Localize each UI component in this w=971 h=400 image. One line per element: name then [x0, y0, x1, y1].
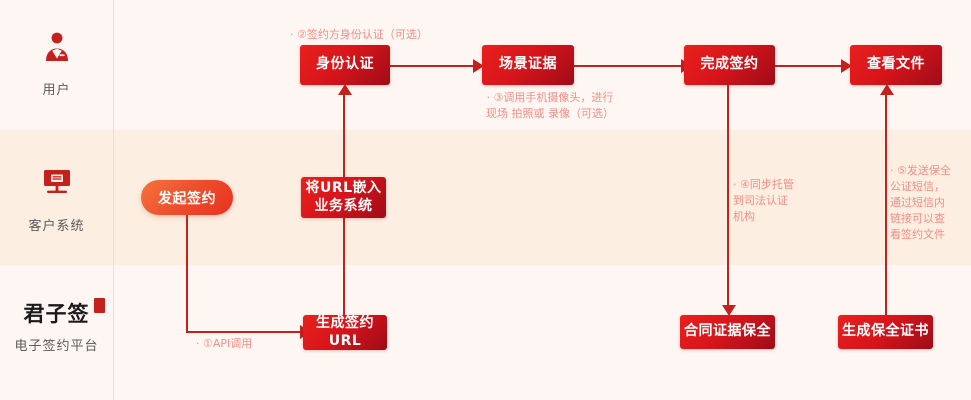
monitor-icon [0, 168, 113, 205]
node-embed-url[interactable]: 将URL嵌入 业务系统 [301, 177, 386, 218]
node-label: 将URL嵌入 业务系统 [305, 180, 381, 215]
lane-label-user: 用户 [0, 30, 113, 98]
lane-label-text: 客户系统 [0, 215, 113, 234]
node-scene-evidence[interactable]: 场景证据 [482, 45, 574, 85]
lane-label-text: 电子签约平台 [0, 335, 113, 354]
node-label: 完成签约 [701, 56, 759, 74]
seal-icon [94, 298, 105, 313]
flow-diagram: 用户 客户系统 君子签 电子签约平台 [0, 0, 971, 400]
note-notary-sms: · ⑤发送保全 公证短信， 通过短信内 链接可以查 看签约文件 [890, 163, 962, 243]
junziqian-logo: 君子签 [0, 303, 113, 324]
logo-wordmark: 君子签 [24, 301, 90, 326]
connector-identity-to-scene [390, 65, 482, 67]
node-label: 合同证据保全 [684, 323, 771, 341]
node-generate-url[interactable]: 生成签约URL [303, 315, 387, 350]
connector-generate-to-embed [343, 205, 345, 315]
node-label: 生成签约URL [303, 315, 387, 350]
note-party-identity-auth: · ②签约方身份认证（可选） [290, 27, 428, 43]
connector-cert-to-view [885, 88, 887, 316]
user-avatar-icon [0, 30, 113, 69]
node-initiate-signing[interactable]: 发起签约 [141, 180, 233, 215]
connector-complete-to-evidence [727, 85, 729, 307]
connector-complete-to-view [775, 65, 850, 67]
lane-column-divider [113, 0, 114, 400]
node-label: 身份认证 [316, 56, 374, 74]
lane-label-text: 用户 [0, 79, 113, 98]
note-api-call: · ①API调用 [196, 336, 252, 352]
connector-scene-to-complete [574, 65, 690, 67]
connector-initiate-down [186, 213, 188, 333]
node-generate-cert[interactable]: 生成保全证书 [838, 315, 933, 349]
node-label: 生成保全证书 [842, 323, 929, 341]
lane-label-platform: 君子签 电子签约平台 [0, 303, 113, 354]
note-camera-capture: · ③调用手机摄像头，进行 现场 拍照或 录像（可选） [467, 90, 633, 122]
connector-initiate-to-generate [186, 331, 308, 333]
lane-band-platform [0, 265, 971, 400]
node-complete-signing[interactable]: 完成签约 [684, 45, 775, 85]
lane-label-client: 客户系统 [0, 168, 113, 234]
node-label: 场景证据 [499, 56, 557, 74]
arrowhead-to-view-document-2 [880, 84, 894, 95]
node-identity-auth[interactable]: 身份认证 [300, 45, 390, 85]
node-label: 发起签约 [158, 188, 216, 208]
node-label: 查看文件 [867, 56, 925, 74]
node-contract-evidence[interactable]: 合同证据保全 [680, 315, 775, 349]
connector-embed-to-identity [343, 88, 345, 178]
node-view-document[interactable]: 查看文件 [850, 45, 942, 85]
note-judicial-escrow: · ④同步托管 到司法认证 机构 [733, 177, 813, 225]
arrowhead-to-identity-auth [338, 84, 352, 95]
